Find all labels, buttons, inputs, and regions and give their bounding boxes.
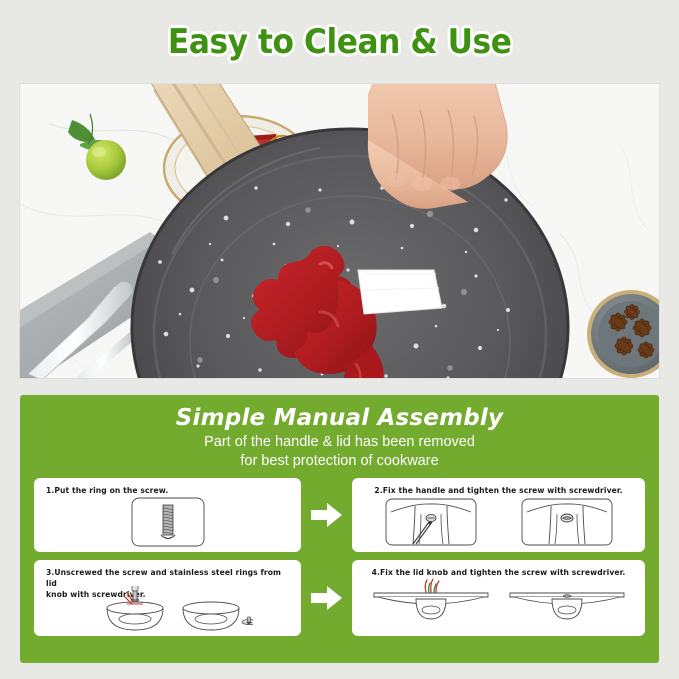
handle-screw-tightened-icon <box>521 498 613 546</box>
assembly-arrow-1 <box>301 478 352 552</box>
assembly-subtitle-line-1: Part of the handle & lid has been remove… <box>34 433 645 452</box>
assembly-step-2-caption: 2.Fix the handle and tighten the screw w… <box>360 485 637 496</box>
assembly-step-4-card: 4.Fix the lid knob and tighten the screw… <box>352 560 645 636</box>
screw-with-ring-icon <box>131 497 205 547</box>
assembly-step-3-card: 3.Unscrewed the screw and stainless stee… <box>34 560 301 636</box>
assembly-step-row-2: 3.Unscrewed the screw and stainless stee… <box>34 560 645 636</box>
paper-towel <box>358 270 442 314</box>
lid-knob-unscrew-icon <box>83 586 253 632</box>
assembly-title: Simple Manual Assembly <box>34 405 645 431</box>
right-arrow-icon <box>311 502 343 528</box>
photo-illustration <box>20 84 659 378</box>
assembly-step-1-caption: 1.Put the ring on the screw. <box>46 485 293 496</box>
assembly-step-2-illustration <box>360 496 637 548</box>
assembly-step-1-card: 1.Put the ring on the screw. <box>34 478 301 552</box>
assembly-step-4-caption: 4.Fix the lid knob and tighten the screw… <box>360 567 637 578</box>
right-arrow-icon <box>311 585 343 611</box>
assembly-step-4-illustration <box>360 578 637 624</box>
assembly-step-row-1: 1.Put the ring on the screw. <box>34 478 645 552</box>
assembly-step-1-illustration <box>42 496 293 548</box>
assembly-steps: 1.Put the ring on the screw. <box>34 478 645 636</box>
assembly-step-2-card: 2.Fix the handle and tighten the screw w… <box>352 478 645 552</box>
lid-knob-fixed-icon <box>508 579 626 623</box>
headline-banner: Easy to Clean & Use <box>0 0 679 84</box>
assembly-arrow-2 <box>301 560 352 636</box>
handle-screw-tighten-icon <box>385 498 477 546</box>
assembly-panel: Simple Manual Assembly Part of the handl… <box>20 395 659 663</box>
page-title: Easy to Clean & Use <box>168 22 512 62</box>
pan-cleaning-photo <box>20 84 659 378</box>
lid-knob-fix-icon <box>372 579 490 623</box>
assembly-subtitle-line-2: for best protection of cookware <box>34 452 645 471</box>
